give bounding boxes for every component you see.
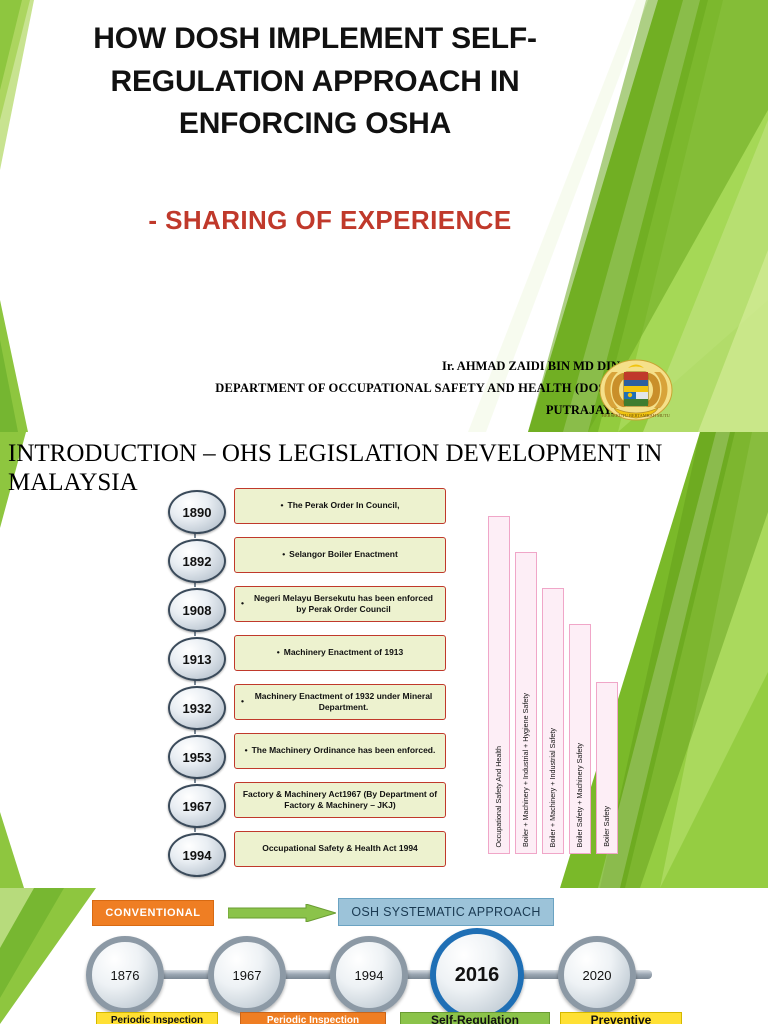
legislation-timeline: 1890 •The Perak Order In Council, 1892 •… <box>168 488 468 880</box>
department-name: DEPARTMENT OF OCCUPATIONAL SAFETY AND HE… <box>40 378 620 400</box>
timeline-text-box: •The Perak Order In Council, <box>234 488 446 524</box>
osh-scope-bar-chart: Occupational Safety And Health Boiler + … <box>488 504 628 854</box>
bullet-icon: • <box>277 647 280 658</box>
list-item: 1953 •The Machinery Ordinance has been e… <box>168 733 468 781</box>
bottom-bar-periodic-inspection-1: Periodic Inspection <box>96 1012 218 1024</box>
list-item: 1994 Occupational Safety & Health Act 19… <box>168 831 468 879</box>
timeline-text-box: •The Machinery Ordinance has been enforc… <box>234 733 446 769</box>
timeline-year-badge: 1932 <box>168 686 226 730</box>
bottom-bar-periodic-inspection-2: Periodic Inspection <box>240 1012 386 1024</box>
chart-bar-label: Boiler Safety + Machinery Safety <box>575 743 584 847</box>
timeline-text: Selangor Boiler Enactment <box>289 549 398 560</box>
timeline-text: Negeri Melayu Bersekutu has been enforce… <box>248 593 439 616</box>
bullet-icon: • <box>241 598 244 609</box>
timeline-text: The Machinery Ordinance has been enforce… <box>252 745 436 756</box>
list-item: 1932 •Machinery Enactment of 1932 under … <box>168 684 468 732</box>
timeline-year-badge: 1994 <box>168 833 226 877</box>
timeline-text: Machinery Enactment of 1932 under Minera… <box>248 691 439 714</box>
conventional-badge: CONVENTIONAL <box>92 900 214 926</box>
list-item: 1890 •The Perak Order In Council, <box>168 488 468 536</box>
decor-left-green-shapes <box>0 0 34 432</box>
osh-systematic-approach-badge: OSH SYSTEMATIC APPROACH <box>338 898 554 926</box>
timeline-node-2020: 2020 <box>558 936 636 1014</box>
slide-approach-timeline: CONVENTIONAL OSH SYSTEMATIC APPROACH 187… <box>0 888 768 1024</box>
right-arrow-green-icon <box>228 904 336 922</box>
timeline-node-1967: 1967 <box>208 936 286 1014</box>
list-item: 1913 •Machinery Enactment of 1913 <box>168 635 468 683</box>
slide-title: HOW DOSH IMPLEMENT SELF-REGULATION APPRO… <box>0 0 768 432</box>
timeline-text-box: •Machinery Enactment of 1932 under Miner… <box>234 684 446 720</box>
list-item: 1967 Factory & Machinery Act1967 (By Dep… <box>168 782 468 830</box>
timeline-node-1994: 1994 <box>330 936 408 1014</box>
bullet-icon: • <box>241 696 244 707</box>
timeline-node-1876: 1876 <box>86 936 164 1014</box>
timeline-text-box: •Negeri Melayu Bersekutu has been enforc… <box>234 586 446 622</box>
timeline-text: Factory & Machinery Act1967 (By Departme… <box>241 789 439 812</box>
bottom-bar-self-regulation: Self-Regulation <box>400 1012 550 1024</box>
timeline-year-badge: 1908 <box>168 588 226 632</box>
chart-bar: Occupational Safety And Health <box>488 516 510 854</box>
chart-bar-label: Boiler + Machinery + Industrial + Hygien… <box>521 693 530 847</box>
timeline-text: The Perak Order In Council, <box>288 500 400 511</box>
timeline-text: Machinery Enactment of 1913 <box>284 647 404 658</box>
slide-introduction: INTRODUCTION – OHS LEGISLATION DEVELOPME… <box>0 432 768 888</box>
timeline-year-badge: 1892 <box>168 539 226 583</box>
chart-bar-label: Boiler Safety <box>602 806 611 847</box>
timeline-text-box: Factory & Machinery Act1967 (By Departme… <box>234 782 446 818</box>
page-subtitle: - SHARING OF EXPERIENCE <box>60 205 600 236</box>
list-item: 1892 •Selangor Boiler Enactment <box>168 537 468 585</box>
chart-bar-label: Occupational Safety And Health <box>494 746 503 848</box>
timeline-text: Occupational Safety & Health Act 1994 <box>262 843 418 854</box>
timeline-year-badge: 1890 <box>168 490 226 534</box>
chart-bar-label: Boiler + Machinery + Industrial Safety <box>548 728 557 847</box>
chart-bar: Boiler + Machinery + Industrial Safety <box>542 588 564 854</box>
timeline-year-badge: 1967 <box>168 784 226 828</box>
chart-bar: Boiler Safety + Machinery Safety <box>569 624 591 854</box>
malaysia-coat-of-arms-icon: BERSEKUTU BERTAMBAH MUTU <box>598 358 674 422</box>
location-name: PUTRAJAYA <box>40 400 620 422</box>
byline: Ir. AHMAD ZAIDI BIN MD DIN DEPARTMENT OF… <box>40 356 620 422</box>
timeline-text-box: •Machinery Enactment of 1913 <box>234 635 446 671</box>
page-title: HOW DOSH IMPLEMENT SELF-REGULATION APPRO… <box>30 18 600 146</box>
timeline-node-2016: 2016 <box>430 928 524 1022</box>
timeline-year-badge: 1913 <box>168 637 226 681</box>
bullet-icon: • <box>245 745 248 756</box>
bullet-icon: • <box>281 500 284 511</box>
chart-bar: Boiler + Machinery + Industrial + Hygien… <box>515 552 537 854</box>
presenter-name: Ir. AHMAD ZAIDI BIN MD DIN <box>40 356 620 378</box>
timeline-text-box: •Selangor Boiler Enactment <box>234 537 446 573</box>
list-item: 1908 •Negeri Melayu Bersekutu has been e… <box>168 586 468 634</box>
bullet-icon: • <box>282 549 285 560</box>
chart-bar: Boiler Safety <box>596 682 618 854</box>
timeline-text-box: Occupational Safety & Health Act 1994 <box>234 831 446 867</box>
timeline-year-badge: 1953 <box>168 735 226 779</box>
svg-text:BERSEKUTU BERTAMBAH MUTU: BERSEKUTU BERTAMBAH MUTU <box>602 413 671 418</box>
bottom-bar-preventive: Preventive <box>560 1012 682 1024</box>
